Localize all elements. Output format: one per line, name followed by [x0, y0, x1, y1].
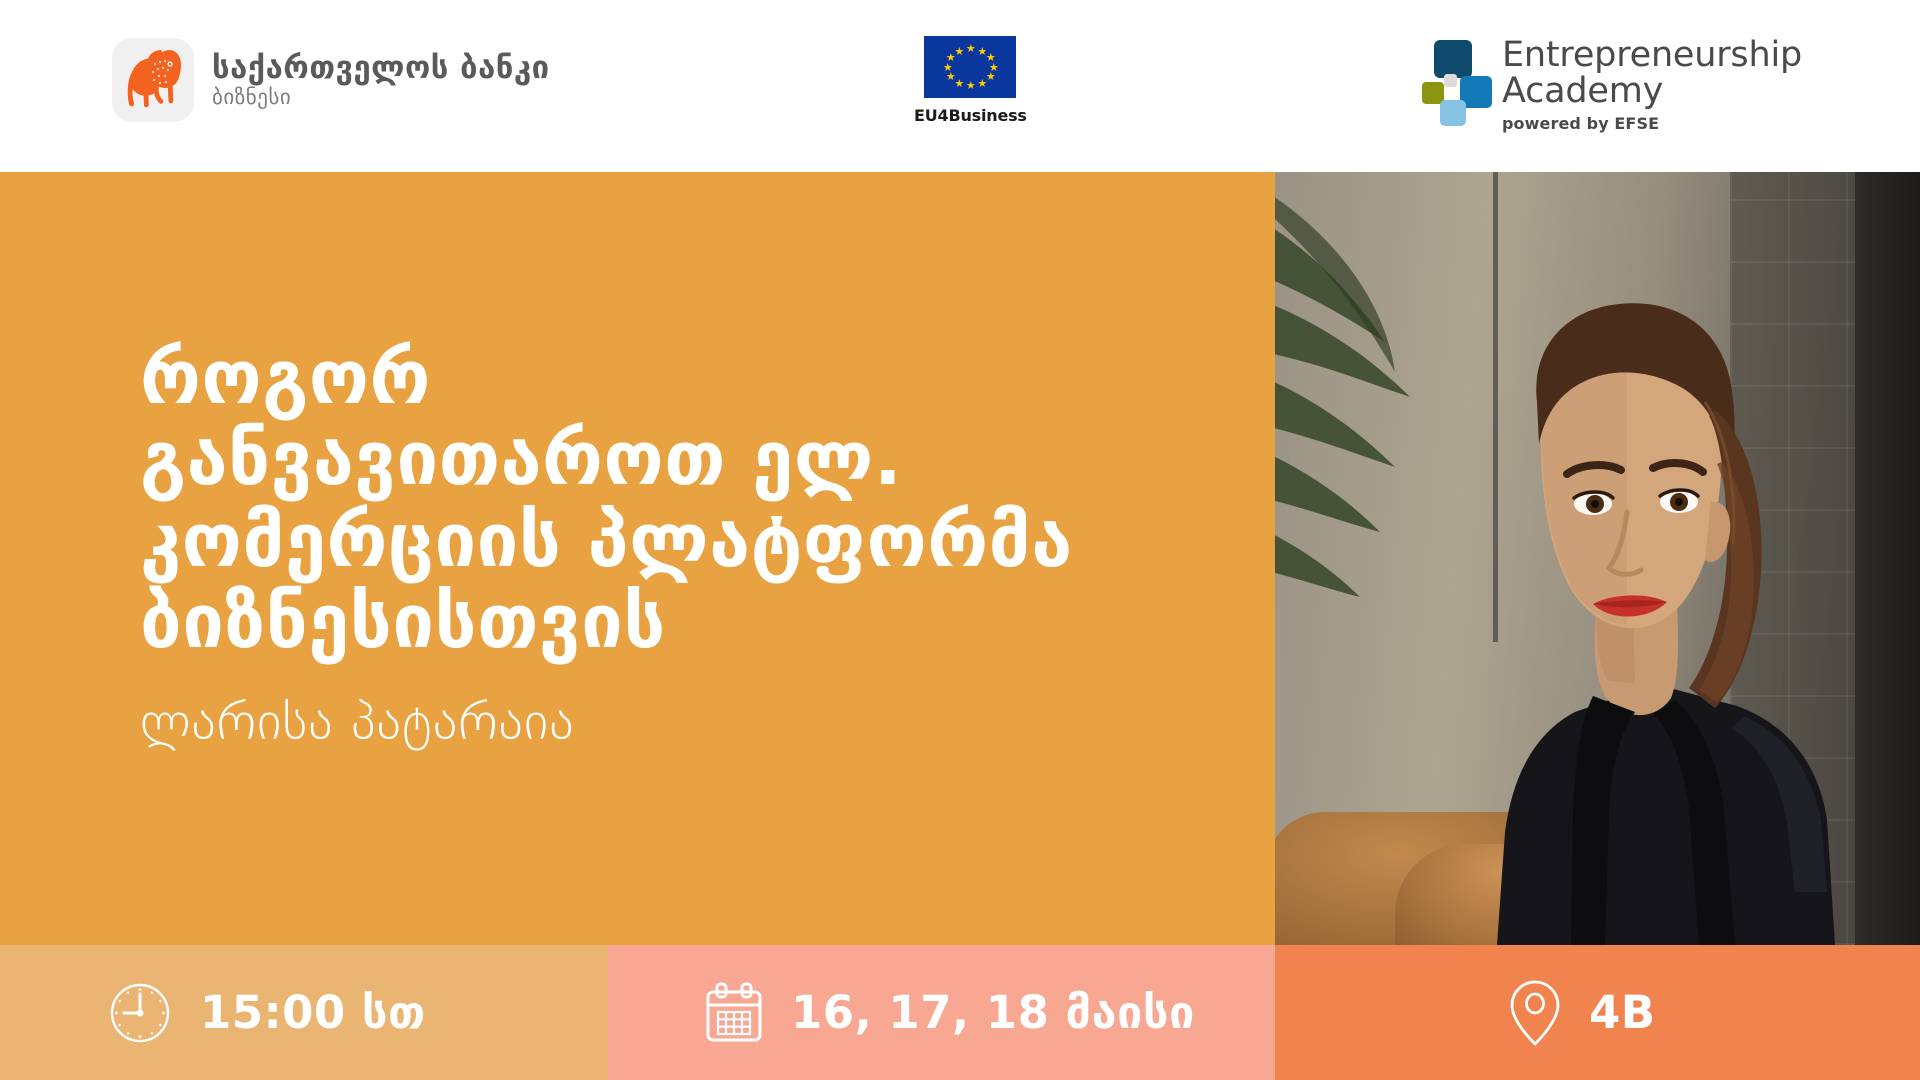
place-value: 4B: [1589, 990, 1656, 1035]
date-value: 16, 17, 18 მაისი: [791, 990, 1195, 1035]
bank-name: საქართველოს ბანკი: [212, 52, 550, 85]
eu-flag-icon: ★ ★ ★ ★ ★ ★ ★ ★ ★ ★ ★ ★: [924, 36, 1016, 98]
academy-powered-by: powered by EFSE: [1502, 114, 1802, 133]
photo-person-figure: [1275, 172, 1920, 945]
title-line-4: ბიზნესისთვის: [140, 582, 1220, 663]
time-value: 15:00 სთ: [200, 990, 426, 1035]
academy-line-1: Entrepreneurship: [1502, 38, 1802, 72]
speaker-name: ლარისა პატარაია: [140, 694, 1220, 751]
title-line-3: კომერციის პლატფორმა: [140, 501, 1220, 582]
map-pin-icon: [1509, 978, 1561, 1048]
event-info-bar: 15:00 სთ: [0, 945, 1920, 1080]
bank-of-georgia-logo: საქართველოს ბანკი ბიზნესი: [112, 38, 550, 122]
info-place: 4B: [1275, 945, 1920, 1080]
main-orange-panel: როგორ განვავითაროთ ელ. კომერციის პლატფორ…: [0, 172, 1275, 945]
eu4business-logo: ★ ★ ★ ★ ★ ★ ★ ★ ★ ★ ★ ★ EU4Business: [914, 36, 1027, 125]
clock-icon: [108, 981, 172, 1045]
bank-subtitle: ბიზნესი: [212, 86, 550, 108]
title-block: როგორ განვავითაროთ ელ. კომერციის პლატფორ…: [140, 338, 1220, 751]
title-line-1: როგორ: [140, 338, 1220, 419]
title-line-2: განვავითაროთ ელ.: [140, 419, 1220, 500]
eu-caption: EU4Business: [914, 106, 1027, 125]
academy-line-2: Academy: [1502, 74, 1802, 108]
info-time: 15:00 სთ: [0, 945, 608, 1080]
speaker-photo: [1275, 172, 1920, 945]
square-navy: [1434, 40, 1472, 78]
bank-logo-text: საქართველოს ბანკი ბიზნესი: [212, 52, 550, 109]
academy-squares-icon: [1422, 38, 1488, 120]
logo-header: საქართველოს ბანკი ბიზნესი ★ ★ ★ ★ ★ ★ ★ …: [0, 0, 1920, 172]
academy-logo-text: Entrepreneurship Academy powered by EFSE: [1502, 38, 1802, 133]
entrepreneurship-academy-logo: Entrepreneurship Academy powered by EFSE: [1422, 38, 1802, 133]
event-poster: საქართველოს ბანკი ბიზნესი ★ ★ ★ ★ ★ ★ ★ …: [0, 0, 1920, 1080]
square-light-blue: [1440, 100, 1466, 126]
square-gray: [1444, 74, 1457, 87]
calendar-icon: [705, 981, 763, 1045]
info-date: 16, 17, 18 მაისი: [608, 945, 1275, 1080]
bog-lion-icon: [112, 38, 194, 122]
